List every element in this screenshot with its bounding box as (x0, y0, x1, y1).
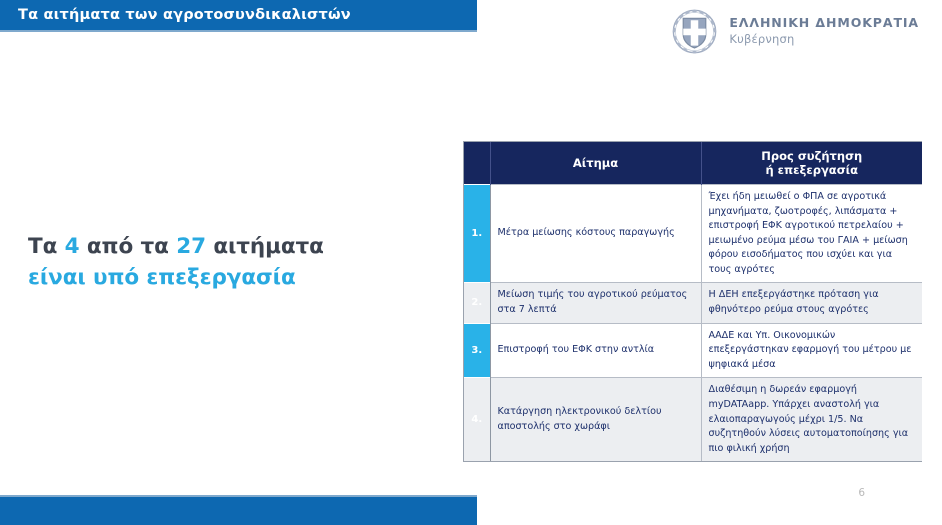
table-row: 1. Μέτρα μείωσης κόστους παραγωγής Έχει … (464, 185, 922, 283)
headline-line-2: είναι υπό επεξεργασία (28, 263, 428, 294)
row-number: 2. (464, 283, 490, 323)
slide-bottom-band (0, 497, 477, 525)
headline-part1: Τα (28, 234, 65, 259)
row-number: 4. (464, 378, 490, 461)
page-number: 6 (858, 487, 865, 499)
row-request: Κατάργηση ηλεκτρονικού δελτίου αποστολής… (490, 378, 701, 461)
row-request: Επιστροφή του ΕΦΚ στην αντλία (490, 323, 701, 378)
row-request: Μείωση τιμής του αγροτικού ρεύματος στα … (490, 283, 701, 323)
table-row: 4. Κατάργηση ηλεκτρονικού δελτίου αποστο… (464, 378, 922, 461)
table-header: Αίτημα Προς συζήτηση ή επεξεργασία (464, 142, 922, 185)
slide-title-band: Τα αιτήματα των αγροτοσυνδικαλιστών (0, 0, 477, 30)
table-header-status-line1: Προς συζήτηση (706, 149, 919, 163)
table-header-number (464, 142, 490, 185)
table-header-row: Αίτημα Προς συζήτηση ή επεξεργασία (464, 142, 922, 185)
headline-part3: αιτήματα (206, 234, 324, 259)
row-status: Η ΔΕΗ επεξεργάστηκε πρόταση για φθηνότερ… (701, 283, 922, 323)
table-header-request: Αίτημα (490, 142, 701, 185)
brand-lockup: ΕΛΛΗΝΙΚΗ ΔΗΜΟΚΡΑΤΙΑ Κυβέρνηση (671, 8, 919, 55)
headline: Τα 4 από τα 27 αιτήματα είναι υπό επεξερ… (28, 232, 428, 293)
table-header-status-line2: ή επεξεργασία (706, 163, 919, 177)
table-row: 2. Μείωση τιμής του αγροτικού ρεύματος σ… (464, 283, 922, 323)
row-status: Έχει ήδη μειωθεί ο ΦΠΑ σε αγροτικά μηχαν… (701, 185, 922, 283)
headline-number-4: 4 (65, 234, 80, 259)
headline-part2: από τα (80, 234, 177, 259)
row-status: Διαθέσιμη η δωρεάν εφαρμογή myDATAapp. Υ… (701, 378, 922, 461)
table-header-status: Προς συζήτηση ή επεξεργασία (701, 142, 922, 185)
greek-republic-emblem-icon (671, 8, 718, 55)
table-body: 1. Μέτρα μείωσης κόστους παραγωγής Έχει … (464, 185, 922, 462)
slide-title: Τα αιτήματα των αγροτοσυνδικαλιστών (0, 7, 351, 23)
brand-text: ΕΛΛΗΝΙΚΗ ΔΗΜΟΚΡΑΤΙΑ Κυβέρνηση (729, 16, 919, 46)
table-row: 3. Επιστροφή του ΕΦΚ στην αντλία ΑΑΔΕ κα… (464, 323, 922, 378)
brand-republic-label: ΕΛΛΗΝΙΚΗ ΔΗΜΟΚΡΑΤΙΑ (729, 16, 919, 31)
row-status: ΑΑΔΕ και Υπ. Οικονομικών επεξεργάστηκαν … (701, 323, 922, 378)
title-band-underline (0, 30, 477, 32)
brand-government-label: Κυβέρνηση (729, 33, 919, 47)
headline-number-27: 27 (176, 234, 206, 259)
row-number: 3. (464, 323, 490, 378)
requests-table: Αίτημα Προς συζήτηση ή επεξεργασία 1. Μέ… (463, 141, 922, 462)
row-number: 1. (464, 185, 490, 283)
row-request: Μέτρα μείωσης κόστους παραγωγής (490, 185, 701, 283)
